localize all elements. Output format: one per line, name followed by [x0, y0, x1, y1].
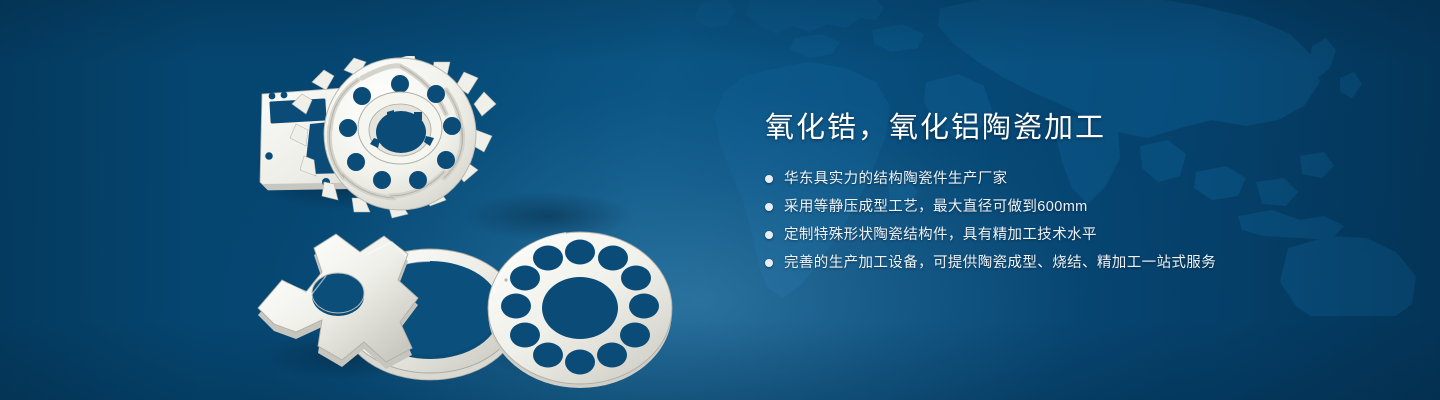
feature-text: 定制特殊形状陶瓷结构件，具有精加工技术水平: [784, 224, 1097, 246]
bullet-dot-icon: [765, 203, 773, 211]
list-item: 完善的生产加工设备，可提供陶瓷成型、烧结、精加工一站式服务: [765, 252, 1405, 274]
list-item: 采用等静压成型工艺，最大直径可做到600mm: [765, 196, 1405, 218]
feature-list: 华东具实力的结构陶瓷件生产厂家 采用等静压成型工艺，最大直径可做到600mm 定…: [765, 168, 1405, 274]
bullet-dot-icon: [765, 231, 773, 239]
list-item: 定制特殊形状陶瓷结构件，具有精加工技术水平: [765, 224, 1405, 246]
bullet-dot-icon: [765, 175, 773, 183]
bullet-dot-icon: [765, 259, 773, 267]
feature-text: 华东具实力的结构陶瓷件生产厂家: [784, 168, 1008, 190]
ceramic-products-image: [248, 56, 688, 390]
list-item: 华东具实力的结构陶瓷件生产厂家: [765, 168, 1405, 190]
promo-banner: 氧化锆，氧化铝陶瓷加工 华东具实力的结构陶瓷件生产厂家 采用等静压成型工艺，最大…: [0, 0, 1440, 400]
banner-copy: 氧化锆，氧化铝陶瓷加工 华东具实力的结构陶瓷件生产厂家 采用等静压成型工艺，最大…: [765, 108, 1405, 280]
ceramic-perforated-disc: [488, 232, 672, 388]
banner-headline: 氧化锆，氧化铝陶瓷加工: [765, 108, 1405, 148]
feature-text: 采用等静压成型工艺，最大直径可做到600mm: [784, 196, 1088, 218]
feature-text: 完善的生产加工设备，可提供陶瓷成型、烧结、精加工一站式服务: [784, 252, 1216, 274]
